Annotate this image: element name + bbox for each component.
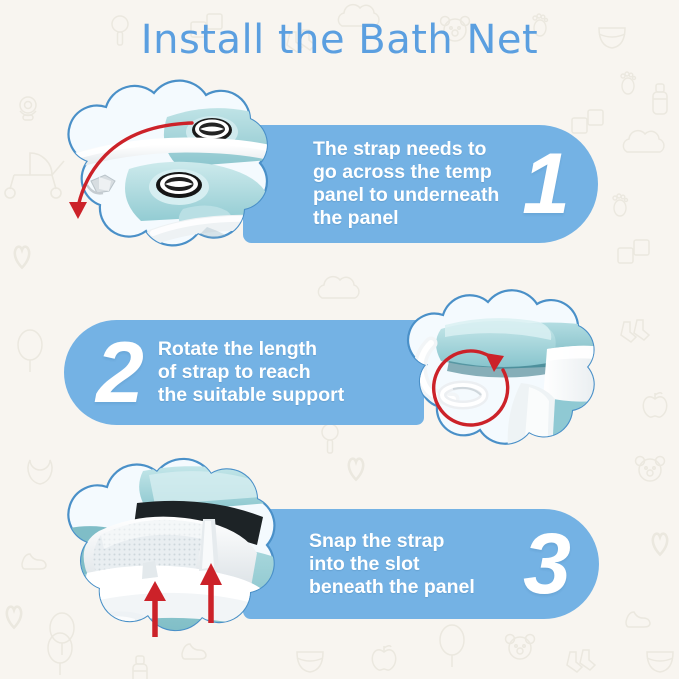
step-3-text: Snap the strap into the slot beneath the… bbox=[309, 530, 523, 599]
page-title: Install the Bath Net bbox=[0, 17, 679, 63]
step-1-number: 1 bbox=[522, 141, 570, 227]
step-1-illustration-cloud bbox=[57, 77, 292, 273]
step-1-text: The strap needs to go across the temp pa… bbox=[313, 138, 522, 230]
step-2-illustration-cloud bbox=[397, 287, 619, 467]
step-3-number: 3 bbox=[523, 521, 571, 607]
step-2-banner: 2 Rotate the length of strap to reach th… bbox=[64, 320, 424, 425]
infographic-page: Install the Bath Net The strap needs to … bbox=[0, 0, 679, 679]
step-2-number: 2 bbox=[96, 330, 144, 416]
step-3-illustration-cloud bbox=[57, 457, 302, 657]
step-2-product-photo bbox=[420, 318, 627, 471]
step-2-text: Rotate the length of strap to reach the … bbox=[158, 338, 384, 407]
step-1-banner: The strap needs to go across the temp pa… bbox=[243, 125, 598, 243]
